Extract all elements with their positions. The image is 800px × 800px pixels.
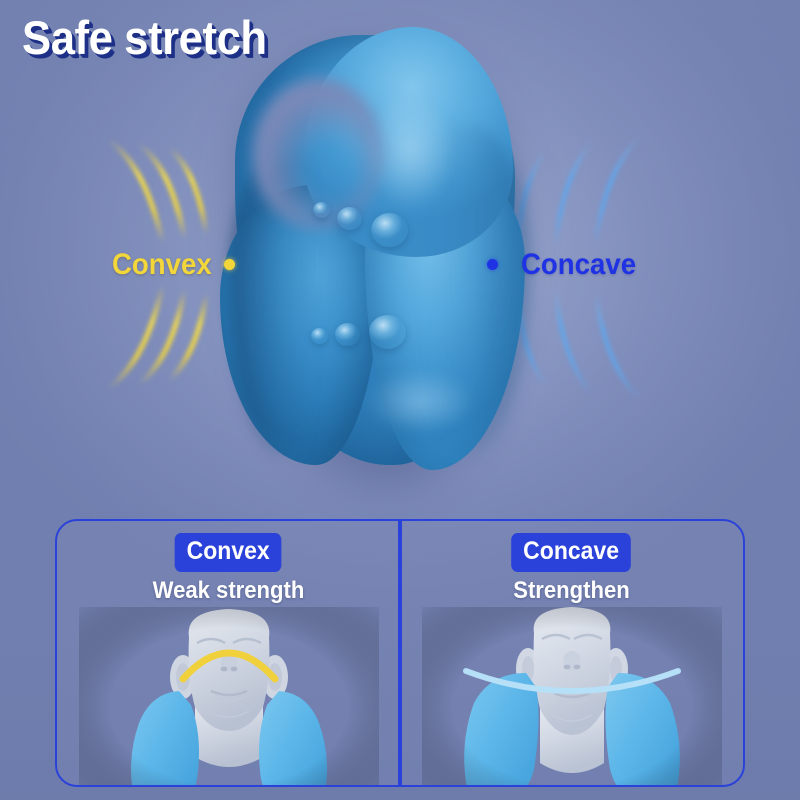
infographic-page: Convex Concave Safe stretch (0, 0, 800, 800)
comparison-panel-concave: Concave Strengthen (400, 521, 743, 785)
figure-convex-mannequin (79, 607, 379, 785)
comparison-panel: Convex Weak strength (55, 519, 745, 787)
panel-head-concave: Concave Strengthen (400, 533, 743, 603)
massage-nub (335, 323, 360, 346)
hero-label-convex: Convex (112, 250, 212, 280)
comparison-panel-convex: Convex Weak strength (57, 521, 400, 785)
concave-marker-dot (487, 259, 498, 270)
massage-nub (369, 315, 406, 349)
massage-nub (337, 207, 362, 230)
massage-nub (313, 202, 330, 218)
panel-head-convex: Convex Weak strength (57, 533, 400, 603)
badge-concave: Concave (512, 533, 632, 572)
arc-group-right-lower (518, 290, 638, 398)
subtitle-concave: Strengthen (414, 579, 730, 603)
massage-nub (311, 328, 328, 344)
panel-divider (398, 521, 402, 785)
product-image-neck-stretcher (225, 35, 525, 465)
badge-convex: Convex (175, 533, 282, 572)
massage-nub (371, 213, 408, 247)
arc-group-left-lower (112, 288, 206, 386)
page-title: Safe stretch (22, 14, 267, 61)
arc-group-right-upper (518, 138, 638, 246)
convex-marker-dot (224, 259, 235, 270)
hero-section: Convex Concave (0, 0, 800, 500)
figure-concave-mannequin (422, 607, 722, 785)
product-bottom-highlight (345, 365, 495, 455)
subtitle-convex: Weak strength (71, 579, 387, 603)
arc-group-left-upper (112, 142, 206, 240)
hero-label-concave: Concave (521, 250, 636, 280)
